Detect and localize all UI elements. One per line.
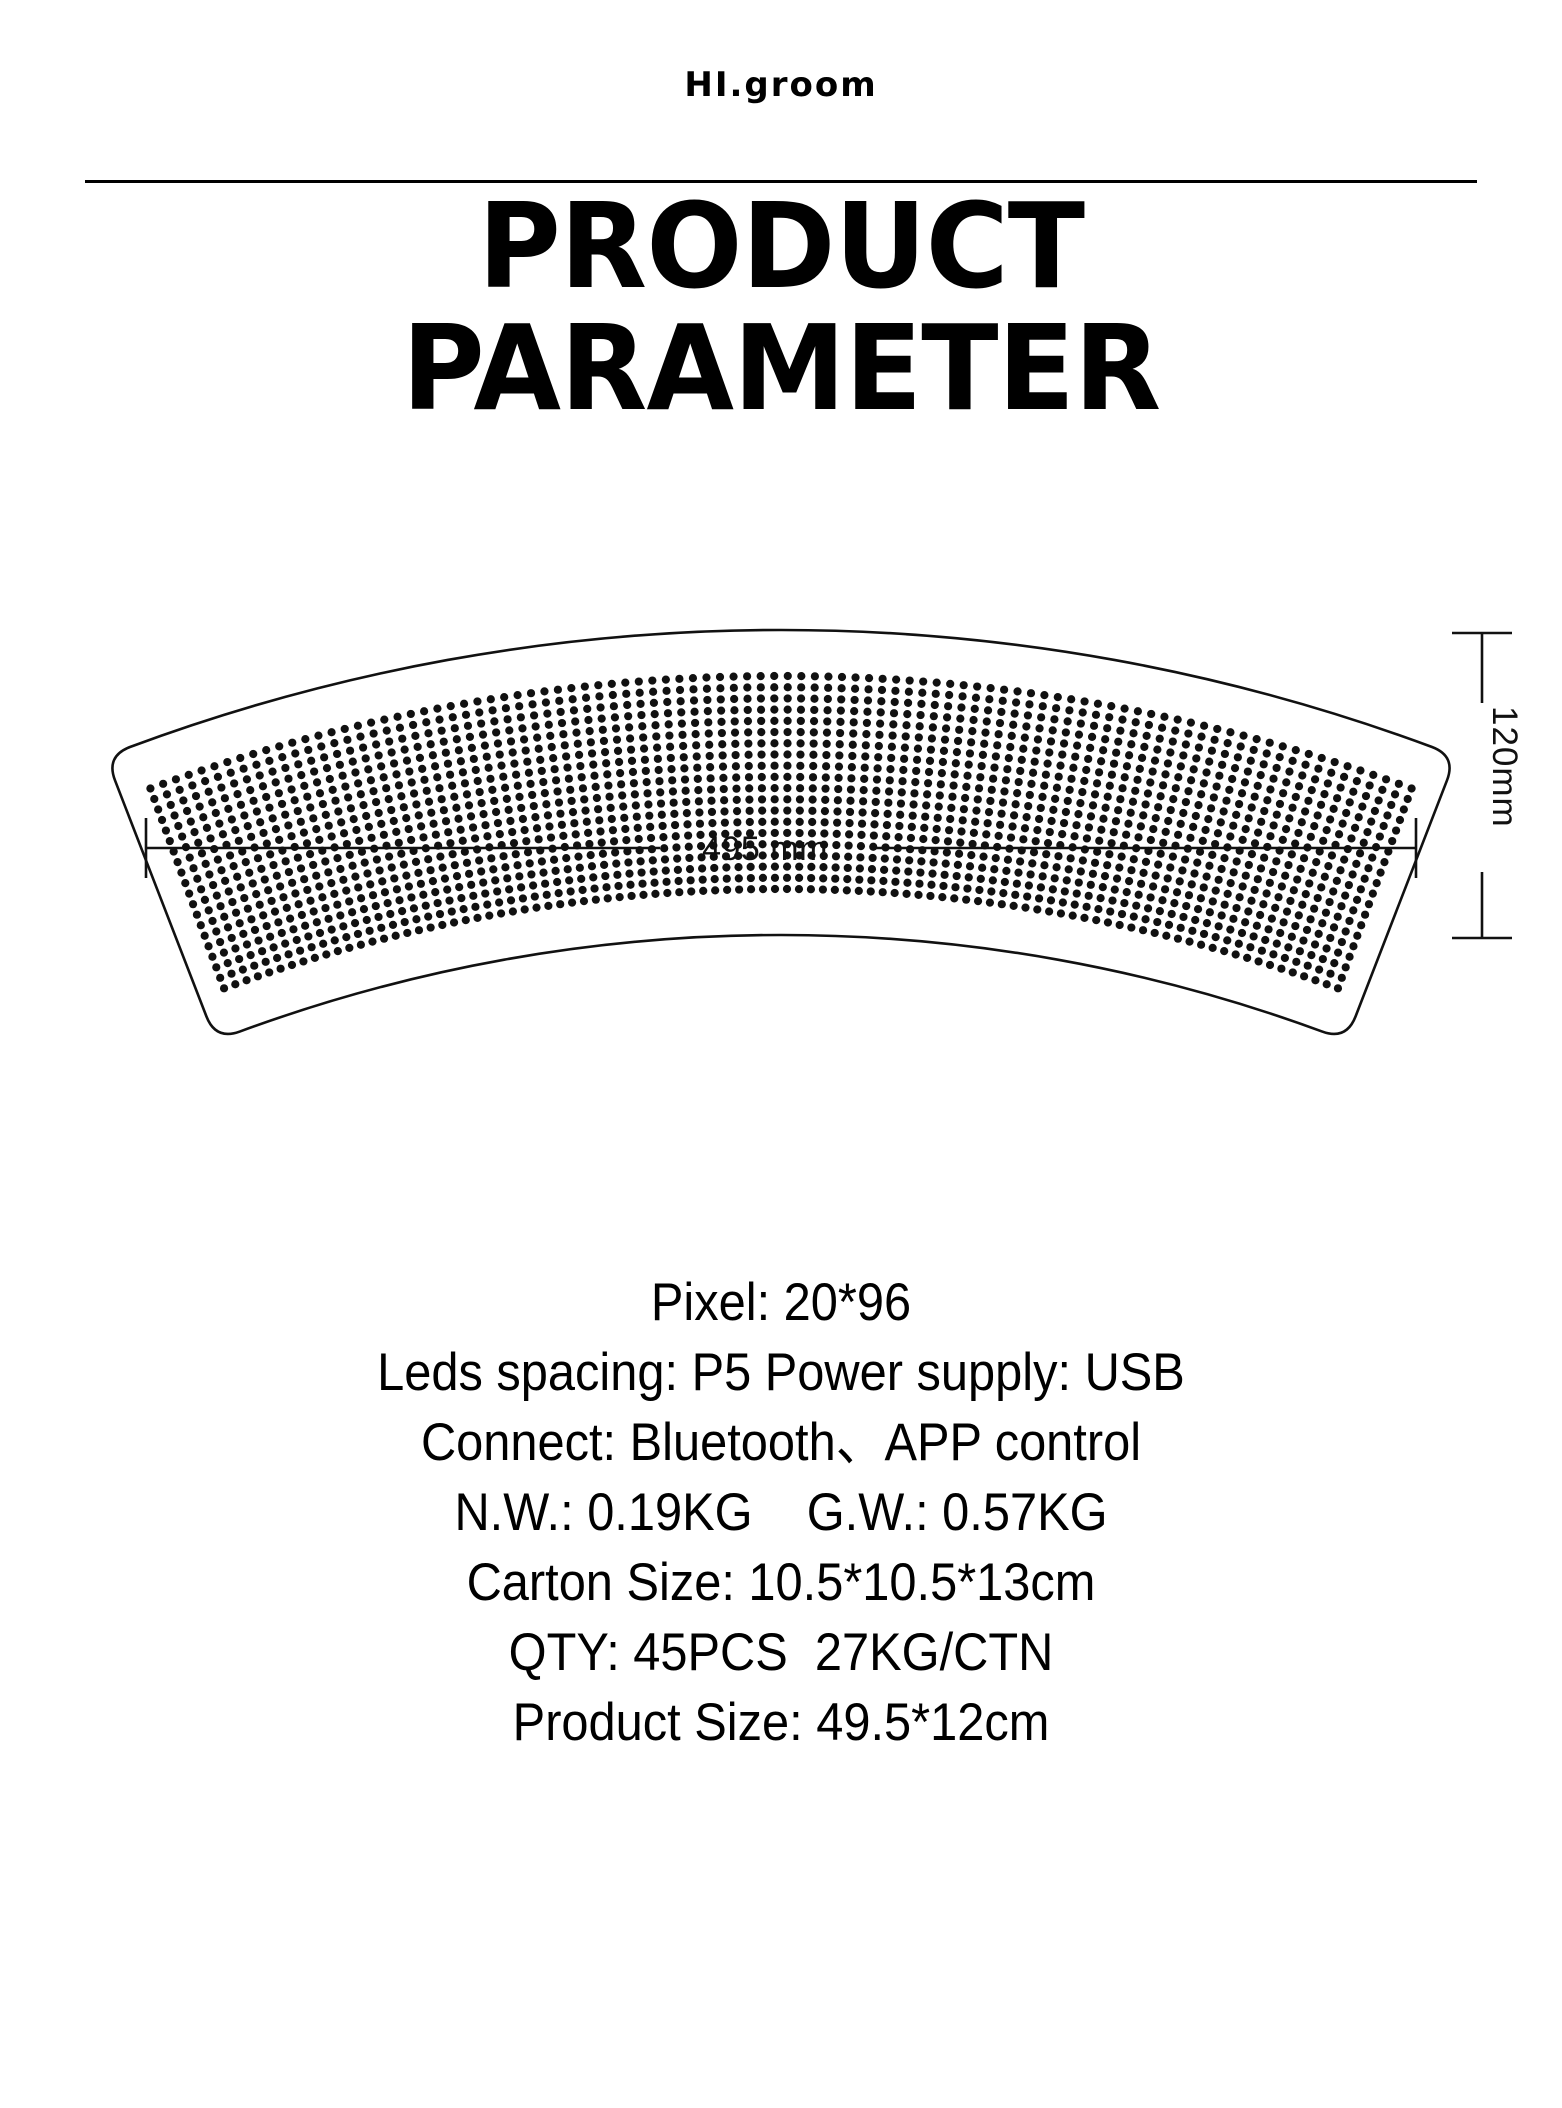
height-dimension-label-wrap: 120mm: [1482, 706, 1526, 833]
spec-line: Product Size: 49.5*12cm: [62, 1688, 1499, 1758]
brand-logo: HI.groom: [684, 68, 877, 102]
page-title: PRODUCT PARAMETER: [0, 186, 1562, 429]
spec-line: Carton Size: 10.5*10.5*13cm: [62, 1548, 1499, 1618]
spec-line: Connect: Bluetooth、APP control: [62, 1408, 1499, 1478]
brand-header: HI.groom: [0, 68, 1562, 102]
specification-list: Pixel: 20*96Leds spacing: P5 Power suppl…: [0, 1268, 1562, 1758]
product-figure: 495 mm: [0, 440, 1562, 1130]
product-diagram: 495 mm: [0, 440, 1562, 1130]
spec-line: QTY: 45PCS 27KG/CTN: [62, 1618, 1499, 1688]
spec-line: Pixel: 20*96: [62, 1268, 1499, 1338]
height-dimension-label: 120mm: [1484, 706, 1524, 828]
page-title-line-2: PARAMETER: [31, 308, 1531, 430]
spec-line: Leds spacing: P5 Power supply: USB: [62, 1338, 1499, 1408]
width-dimension-label: 495 mm: [702, 830, 828, 868]
spec-line: N.W.: 0.19KG G.W.: 0.57KG: [62, 1478, 1499, 1548]
page-title-line-1: PRODUCT: [31, 186, 1531, 308]
